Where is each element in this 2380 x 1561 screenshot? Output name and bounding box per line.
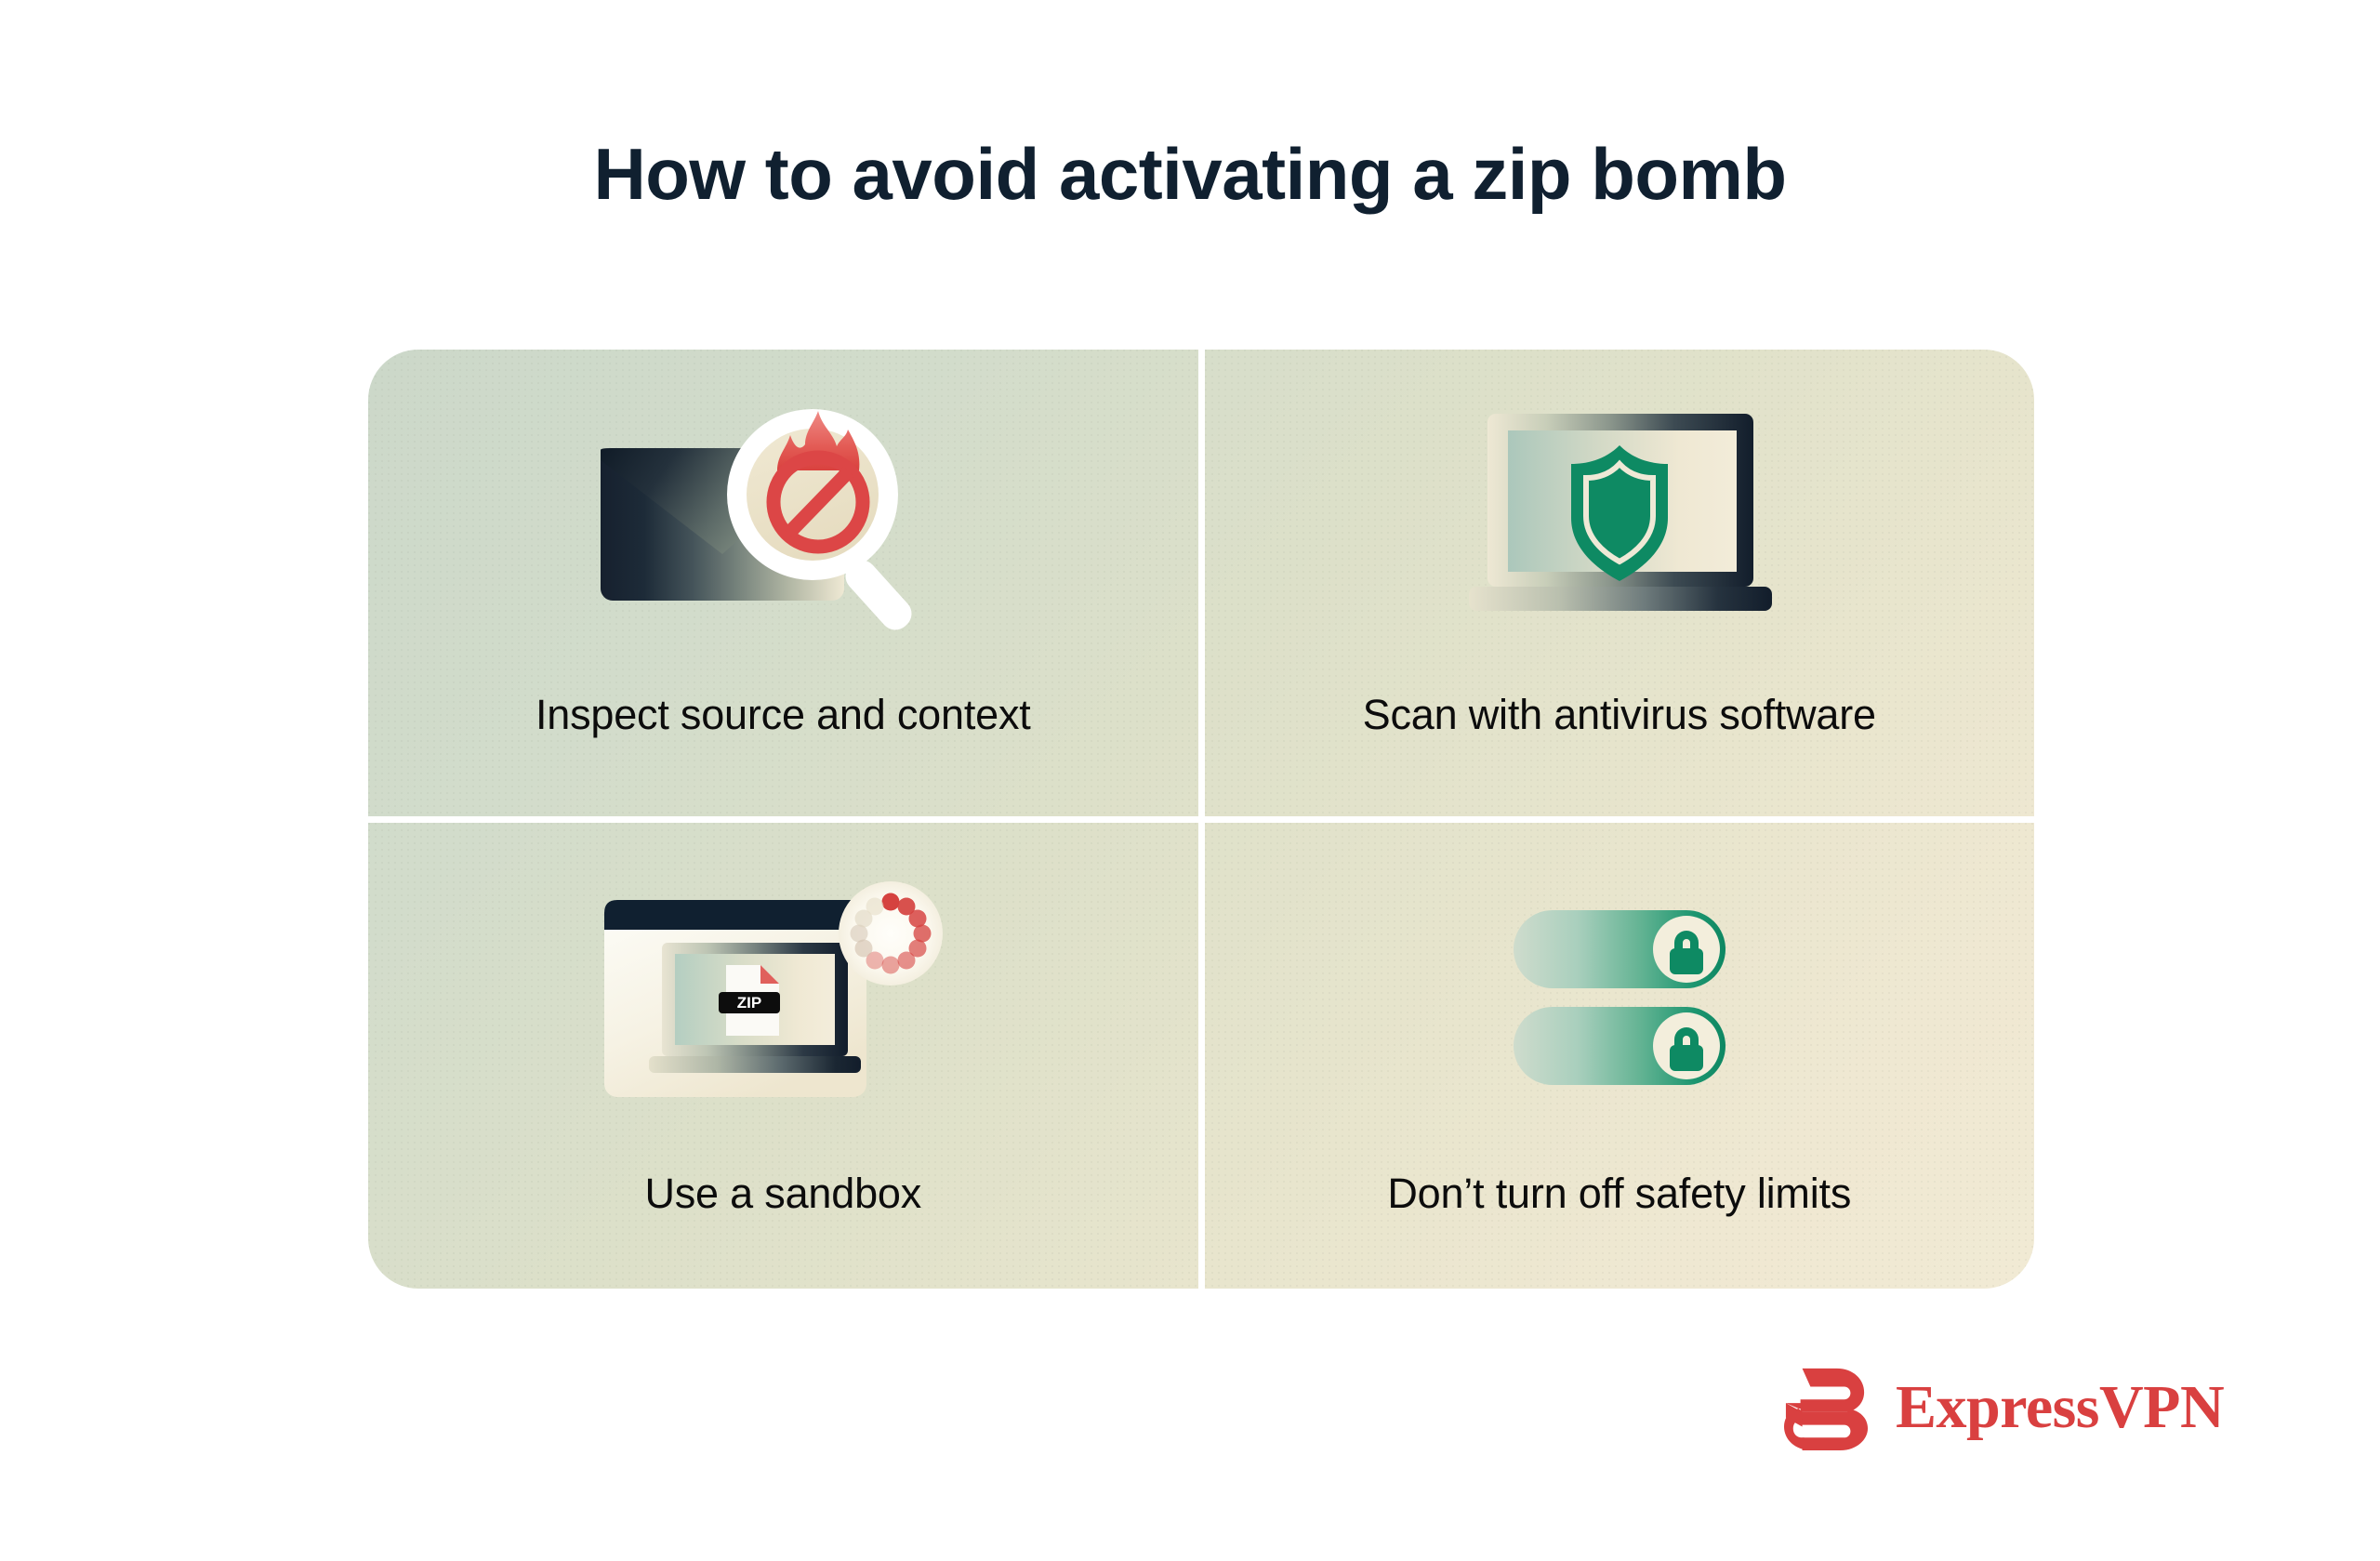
card-use-sandbox[interactable]: ZIP [368, 823, 1198, 1290]
card-inspect-source[interactable]: Inspect source and context [368, 350, 1198, 816]
card-label-inspect-source: Inspect source and context [368, 691, 1198, 739]
expressvpn-logo[interactable]: ExpressVPN [1780, 1365, 2224, 1450]
card-artwork-use-sandbox: ZIP [368, 877, 1198, 1118]
card-safety-limits[interactable]: Don’t turn off safety limits [1205, 823, 2035, 1290]
zip-file-icon: ZIP [719, 965, 780, 1036]
toggle-switches-illustration [1508, 905, 1731, 1091]
card-artwork-safety-limits [1205, 877, 2035, 1118]
card-artwork-scan-antivirus [1205, 398, 2035, 640]
card-label-scan-antivirus: Scan with antivirus software [1205, 691, 2035, 739]
loading-spinner-icon [839, 881, 943, 986]
card-label-use-sandbox: Use a sandbox [368, 1170, 1198, 1218]
magnifying-glass-icon [727, 409, 918, 636]
expressvpn-wordmark: ExpressVPN [1896, 1377, 2224, 1438]
page-title: How to avoid activating a zip bomb [0, 135, 2380, 215]
card-scan-antivirus[interactable]: Scan with antivirus software [1205, 350, 2035, 816]
toggle-switch-icon[interactable] [1514, 910, 1725, 988]
sandbox-illustration: ZIP [597, 881, 969, 1114]
zip-file-badge-text: ZIP [737, 994, 761, 1012]
toggle-switch-icon[interactable] [1514, 1007, 1725, 1085]
laptop-shield-illustration [1452, 403, 1787, 635]
tips-grid: Inspect source and context [368, 350, 2034, 1289]
envelope-inspect-illustration [588, 398, 978, 640]
card-artwork-inspect-source [368, 398, 1198, 640]
card-label-safety-limits: Don’t turn off safety limits [1205, 1170, 2035, 1218]
expressvpn-logo-mark [1780, 1365, 1871, 1450]
